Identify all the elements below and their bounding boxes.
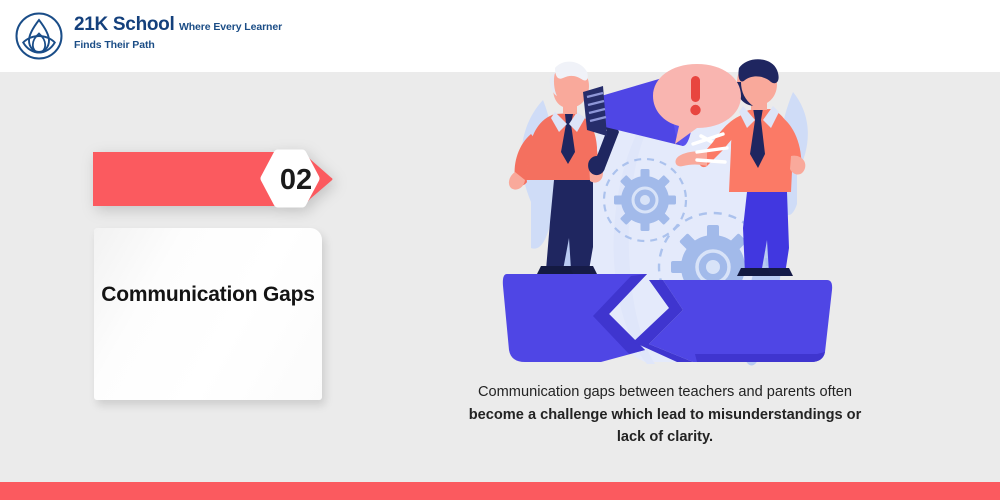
brand-text-block: 21K School Where Every Learner Finds The… — [74, 11, 282, 53]
brand-name: 21K School — [74, 14, 174, 35]
lotus-circle-icon — [14, 11, 64, 61]
slide-title-card: Communication Gaps — [94, 228, 322, 400]
footer-accent-bar — [0, 482, 1000, 500]
body-line-3: lack of clarity. — [405, 426, 925, 449]
communication-gap-illustration — [497, 52, 837, 377]
slide-number: 02 — [269, 162, 323, 198]
brand-logo-lockup[interactable]: 21K School Where Every Learner Finds The… — [14, 11, 282, 61]
cracked-platform-shape — [503, 274, 832, 362]
body-line-2: become a challenge which lead to misunde… — [405, 404, 925, 427]
brand-tagline-line-1: Where Every Learner — [179, 21, 282, 33]
body-line-1: Communication gaps between teachers and … — [405, 381, 925, 404]
exclamation-mark — [690, 76, 700, 115]
body-copy: Communication gaps between teachers and … — [405, 381, 925, 449]
brand-tagline-line-2: Finds Their Path — [74, 39, 155, 51]
slide-title: Communication Gaps — [94, 282, 322, 308]
